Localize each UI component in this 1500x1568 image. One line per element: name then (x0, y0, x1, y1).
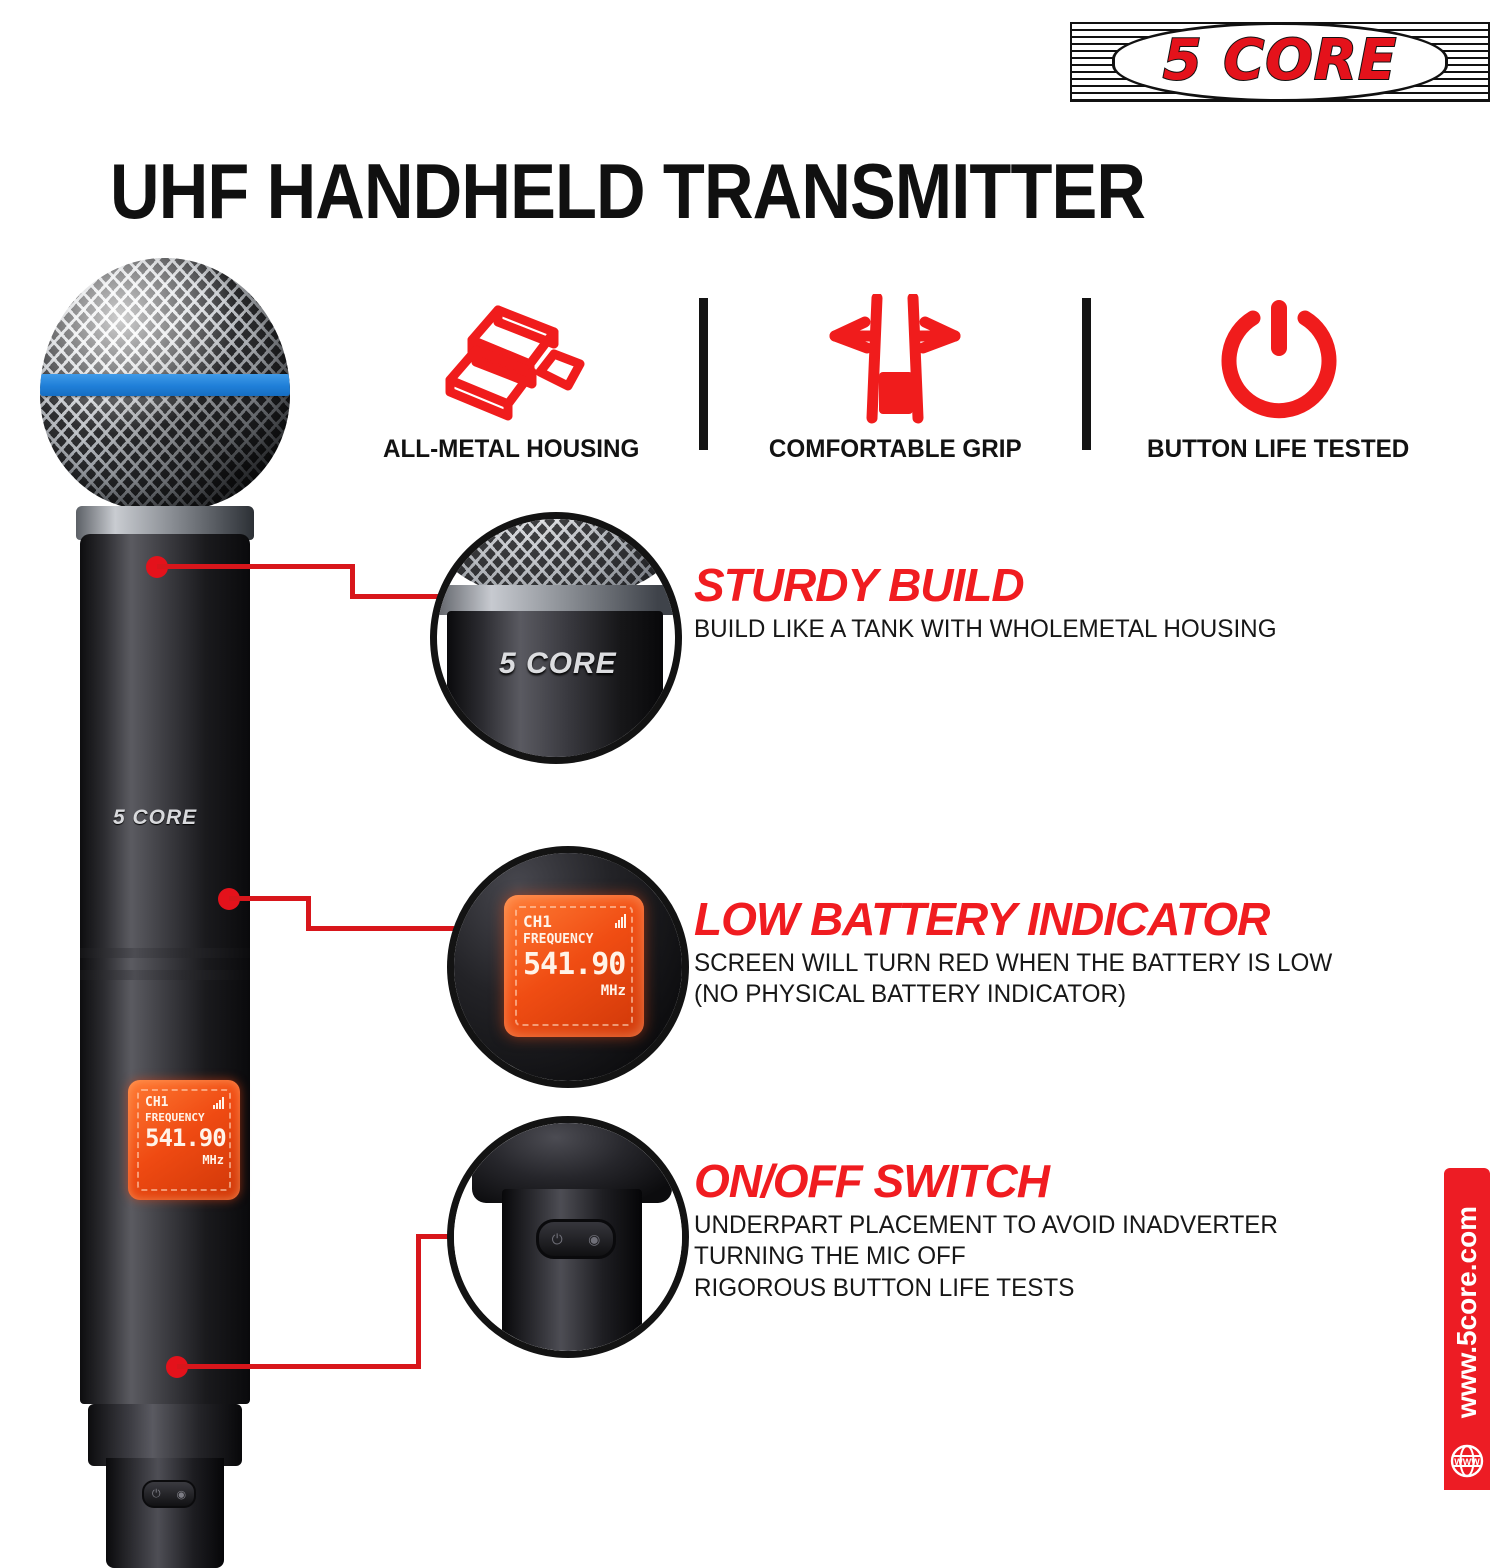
signal-bars-icon (615, 916, 626, 928)
website-url: www.5core.com (1451, 1206, 1483, 1418)
callout-line: TURNING THE MIC OFF (694, 1241, 1278, 1273)
feature-button-life-tested: BUTTON LIFE TESTED (1097, 288, 1460, 464)
svg-text:WWW: WWW (1454, 1457, 1480, 1467)
divider-1 (699, 298, 708, 450)
zoom-circle-on-off-switch: ⏻◉ (447, 1116, 689, 1358)
callout-sturdy-build: STURDY BUILD BUILD LIKE A TANK WITH WHOL… (694, 562, 1295, 645)
zoom-lcd-frequency-label: FREQUENCY (523, 932, 626, 947)
microphone-grille (40, 258, 290, 510)
grip-icon (815, 292, 975, 427)
lcd-channel: CH1 (145, 1095, 168, 1110)
globe-www-icon: WWW (1450, 1444, 1484, 1478)
leader-seg-2c (306, 926, 454, 931)
zoom-base-tube (502, 1189, 642, 1358)
signal-bars-icon (213, 1097, 224, 1109)
zoom-body (447, 611, 663, 764)
microphone-product-image: 5 CORE CH1 FREQUENCY 541.90 MHz ⏻◉ (18, 258, 308, 1458)
microphone-brand-label: 5 CORE (113, 806, 197, 830)
infographic-page: 5 CORE UHF HANDHELD TRANSMITTER (0, 0, 1500, 1500)
zoom-power-switch-icon: ⏻◉ (536, 1219, 616, 1259)
blue-band (40, 374, 290, 396)
callout-line: RIGOROUS BUTTON LIFE TESTS (694, 1273, 1278, 1305)
leader-seg-1b (350, 564, 355, 598)
leader-seg-2b (306, 896, 311, 930)
body-ring-lower (80, 970, 250, 980)
callout-title: ON/OFF SWITCH (694, 1158, 1296, 1205)
zoom-lcd-display: CH1 FREQUENCY 541.90 MHz (504, 895, 644, 1037)
callout-line: BUILD LIKE A TANK WITH WHOLEMETAL HOUSIN… (694, 614, 1277, 646)
callout-title: STURDY BUILD (694, 562, 1295, 609)
feature-label: COMFORTABLE GRIP (769, 435, 1022, 464)
leader-seg-2a (229, 896, 311, 901)
lcd-frequency-label: FREQUENCY (145, 1111, 224, 1124)
website-tab[interactable]: www.5core.com WWW (1444, 1168, 1490, 1490)
power-switch-icon[interactable]: ⏻◉ (142, 1480, 196, 1508)
leader-seg-1a (157, 564, 355, 569)
feature-comfortable-grip: COMFORTABLE GRIP (714, 288, 1077, 464)
callout-on-off-switch: ON/OFF SWITCH UNDERPART PLACEMENT TO AVO… (694, 1158, 1296, 1304)
lcd-unit: MHz (145, 1153, 224, 1167)
callout-title: LOW BATTERY INDICATOR (694, 896, 1352, 943)
feature-strip: ALL-METAL HOUSING COMFORTABLE GRIP (330, 288, 1460, 488)
power-icon (1213, 292, 1345, 427)
microphone-lower-barrel (88, 1404, 242, 1466)
callout-line: UNDERPART PLACEMENT TO AVOID INADVERTER (694, 1210, 1278, 1242)
callout-line: (NO PHYSICAL BATTERY INDICATOR) (694, 979, 1332, 1011)
zoom-brand-label: 5 CORE (499, 647, 617, 681)
logo-text: 5 CORE (1163, 28, 1398, 93)
callout-low-battery-indicator: LOW BATTERY INDICATOR SCREEN WILL TURN R… (694, 896, 1352, 1011)
lcd-frequency-value: 541.90 (145, 1124, 224, 1152)
leader-seg-3b (416, 1234, 421, 1369)
microphone-body (80, 534, 250, 1404)
zoom-lcd-unit: MHz (523, 983, 626, 999)
zoom-lcd-channel: CH1 (523, 912, 552, 931)
feature-label: ALL-METAL HOUSING (383, 435, 639, 464)
divider-2 (1082, 298, 1091, 450)
feature-all-metal-housing: ALL-METAL HOUSING (330, 288, 693, 464)
zoom-lcd-frequency-value: 541.90 (523, 947, 626, 982)
page-title: UHF HANDHELD TRANSMITTER (110, 146, 1145, 237)
microphone-lcd-display: CH1 FREQUENCY 541.90 MHz (128, 1080, 240, 1200)
body-ring-upper (80, 948, 250, 958)
metal-bars-icon (436, 292, 586, 427)
brand-logo: 5 CORE (1070, 22, 1490, 102)
leader-seg-3a (177, 1364, 421, 1369)
microphone-base (106, 1458, 224, 1568)
zoom-circle-low-battery: CH1 FREQUENCY 541.90 MHz (447, 846, 689, 1088)
feature-label: BUTTON LIFE TESTED (1148, 435, 1410, 464)
callout-line: SCREEN WILL TURN RED WHEN THE BATTERY IS… (694, 948, 1332, 980)
zoom-circle-sturdy-build: 5 CORE (430, 512, 682, 764)
